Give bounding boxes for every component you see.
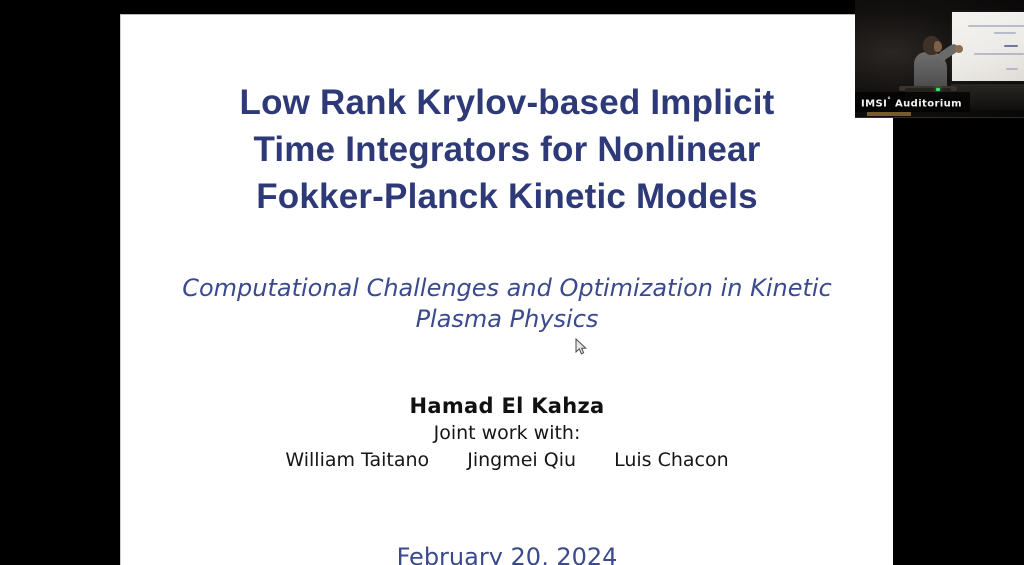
joint-work-label: Joint work with: <box>121 420 893 446</box>
overlay-seam <box>855 117 1024 118</box>
video-scene: IMSI° Auditorium <box>855 0 1024 118</box>
projected-text-line <box>1006 68 1018 70</box>
projected-text-line <box>968 25 1024 27</box>
room-label: IMSI° Auditorium <box>855 92 970 112</box>
coauthor-1: William Taitano <box>269 446 445 474</box>
room-label-superscript: ° <box>887 96 891 104</box>
slide-content: Low Rank Krylov-based Implicit Time Inte… <box>121 15 893 565</box>
projected-text-line <box>994 32 1016 34</box>
projected-slide <box>952 12 1024 81</box>
projected-text-line <box>1004 45 1018 47</box>
room-label-acronym: IMSI <box>861 98 887 109</box>
title-line-2: Time Integrators for Nonlinear <box>121 126 893 173</box>
video-player-screen: Low Rank Krylov-based Implicit Time Inte… <box>0 0 1024 565</box>
presenter-hand <box>955 45 963 53</box>
subtitle-line-1: Computational Challenges and Optimizatio… <box>181 273 833 304</box>
speaker-video-overlay[interactable]: IMSI° Auditorium <box>855 0 1024 118</box>
slide-title: Low Rank Krylov-based Implicit Time Inte… <box>121 79 893 220</box>
author-block: Hamad El Kahza Joint work with: William … <box>121 393 893 474</box>
date-text: February 20, 2024 <box>397 543 618 565</box>
presentation-slide[interactable]: Low Rank Krylov-based Implicit Time Inte… <box>120 14 893 565</box>
room-label-name: Auditorium <box>895 98 962 109</box>
presenter-name: Hamad El Kahza <box>121 393 893 420</box>
coauthor-2: Jingmei Qiu <box>451 446 592 474</box>
title-line-1: Low Rank Krylov-based Implicit <box>121 79 893 126</box>
slide-date: February 20, 2024 <box>121 542 893 565</box>
coauthor-row: William Taitano Jingmei Qiu Luis Chacon <box>121 446 893 474</box>
subtitle-line-2: Plasma Physics <box>181 304 833 335</box>
coauthor-3: Luis Chacon <box>598 446 745 474</box>
title-line-3: Fokker-Planck Kinetic Models <box>121 173 893 220</box>
projected-text-line <box>974 53 1024 55</box>
slide-subtitle: Computational Challenges and Optimizatio… <box>181 273 833 335</box>
podium-led-indicator <box>936 88 940 91</box>
caption-underline <box>867 112 911 116</box>
